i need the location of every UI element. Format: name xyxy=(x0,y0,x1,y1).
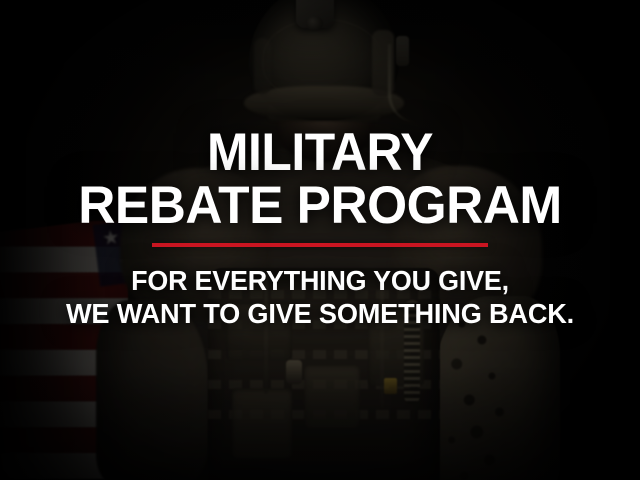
poster-content: MILITARY REBATE PROGRAM FOR EVERYTHING Y… xyxy=(0,0,640,480)
headline-block: MILITARY REBATE PROGRAM xyxy=(0,128,640,232)
subheadline-line-2: WE WANT TO GIVE SOMETHING BACK. xyxy=(10,299,631,329)
headline-line-2: REBATE PROGRAM xyxy=(10,181,631,232)
red-rule-divider xyxy=(152,243,488,247)
military-rebate-poster: ★ ★ ★ ★ ★ ★ xyxy=(0,0,640,480)
subheadline-block: FOR EVERYTHING YOU GIVE, WE WANT TO GIVE… xyxy=(0,266,640,329)
headline-line-1: MILITARY xyxy=(19,128,621,179)
subheadline-line-1: FOR EVERYTHING YOU GIVE, xyxy=(13,266,627,296)
